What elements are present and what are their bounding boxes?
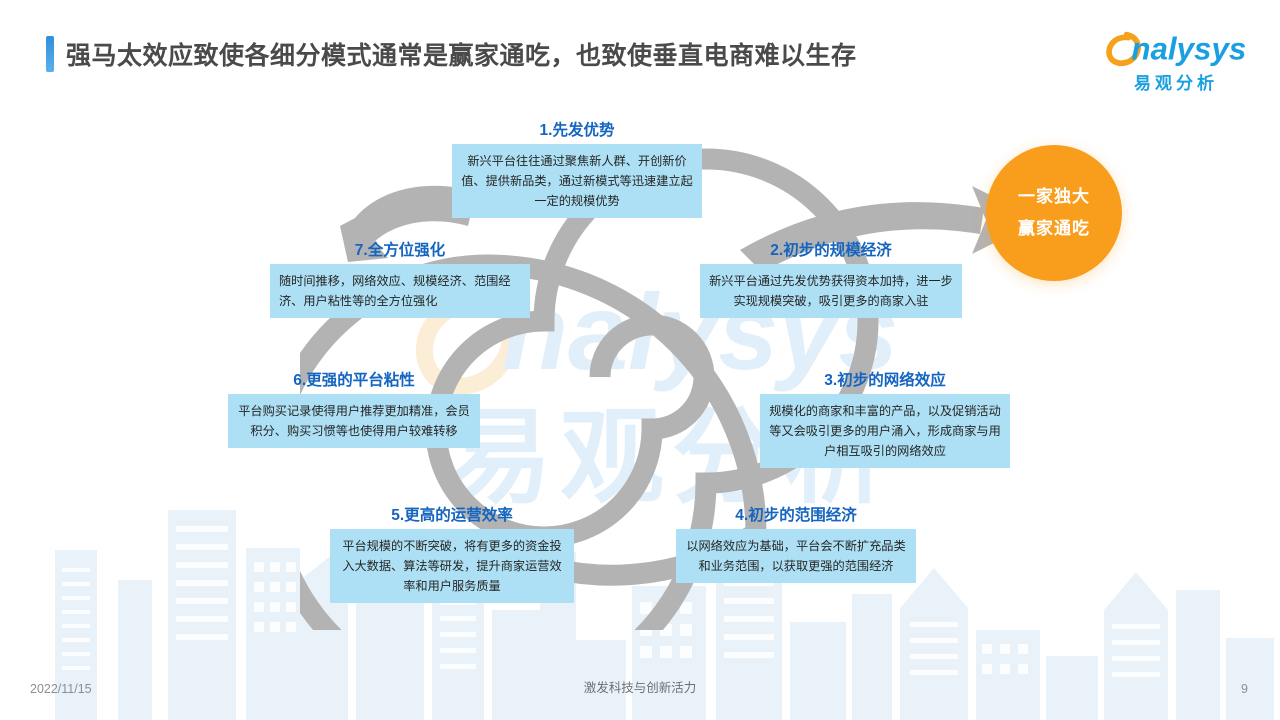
step-5[interactable]: 5.更高的运营效率 平台规模的不断突破，将有更多的资金投入大数据、算法等研发，提… (330, 503, 574, 603)
step-6[interactable]: 6.更强的平台粘性 平台购买记录使得用户推荐更加精准，会员积分、购买习惯等也使得… (228, 368, 480, 448)
step-5-body: 平台规模的不断突破，将有更多的资金投入大数据、算法等研发，提升商家运营效率和用户… (330, 529, 574, 603)
footer-tagline: 激发科技与创新活力 (0, 677, 1280, 696)
step-1-title: 1.先发优势 (452, 118, 702, 140)
outcome-circle[interactable]: 一家独大 赢家通吃 (986, 145, 1122, 281)
step-3-title: 3.初步的网络效应 (760, 368, 1010, 390)
step-3-body: 规模化的商家和丰富的产品，以及促销活动等又会吸引更多的用户涌入，形成商家与用户相… (760, 394, 1010, 468)
footer-page-number: 9 (1241, 682, 1248, 696)
page-title-bar: 强马太效应致使各细分模式通常是赢家通吃，也致使垂直电商难以生存 (46, 36, 857, 72)
step-5-title: 5.更高的运营效率 (330, 503, 574, 525)
analysys-wordmark-icon: nalysys (1100, 26, 1252, 68)
step-3[interactable]: 3.初步的网络效应 规模化的商家和丰富的产品，以及促销活动等又会吸引更多的用户涌… (760, 368, 1010, 468)
step-4-body: 以网络效应为基础，平台会不断扩充品类和业务范围，以获取更强的范围经济 (676, 529, 916, 583)
step-2[interactable]: 2.初步的规模经济 新兴平台通过先发优势获得资本加持，进一步实现规模突破，吸引更… (700, 238, 962, 318)
step-7-body: 随时间推移，网络效应、规模经济、范围经济、用户粘性等的全方位强化 (270, 264, 530, 318)
analysys-logo: nalysys 易观分析 (1100, 26, 1252, 88)
analysys-logo-chinese: 易观分析 (1100, 69, 1252, 94)
step-6-body: 平台购买记录使得用户推荐更加精准，会员积分、购买习惯等也使得用户较难转移 (228, 394, 480, 448)
step-1-body: 新兴平台往往通过聚焦新人群、开创新价值、提供新品类，通过新模式等迅速建立起一定的… (452, 144, 702, 218)
step-4[interactable]: 4.初步的范围经济 以网络效应为基础，平台会不断扩充品类和业务范围，以获取更强的… (676, 503, 916, 583)
step-1[interactable]: 1.先发优势 新兴平台往往通过聚焦新人群、开创新价值、提供新品类，通过新模式等迅… (452, 118, 702, 218)
step-4-title: 4.初步的范围经济 (676, 503, 916, 525)
outcome-line-2: 赢家通吃 (1018, 213, 1090, 245)
page-title: 强马太效应致使各细分模式通常是赢家通吃，也致使垂直电商难以生存 (66, 36, 857, 72)
step-6-title: 6.更强的平台粘性 (228, 368, 480, 390)
svg-text:nalysys: nalysys (1131, 31, 1246, 66)
step-7-title: 7.全方位强化 (270, 238, 530, 260)
slide-canvas: nalysys 易观分析 1.先发优势 新兴平台往往通过聚焦新人群、开创新价值、… (0, 0, 1280, 720)
step-2-body: 新兴平台通过先发优势获得资本加持，进一步实现规模突破，吸引更多的商家入驻 (700, 264, 962, 318)
outcome-line-1: 一家独大 (1018, 181, 1090, 213)
step-2-title: 2.初步的规模经济 (700, 238, 962, 260)
title-accent-bar (46, 36, 54, 72)
step-7[interactable]: 7.全方位强化 随时间推移，网络效应、规模经济、范围经济、用户粘性等的全方位强化 (270, 238, 530, 318)
